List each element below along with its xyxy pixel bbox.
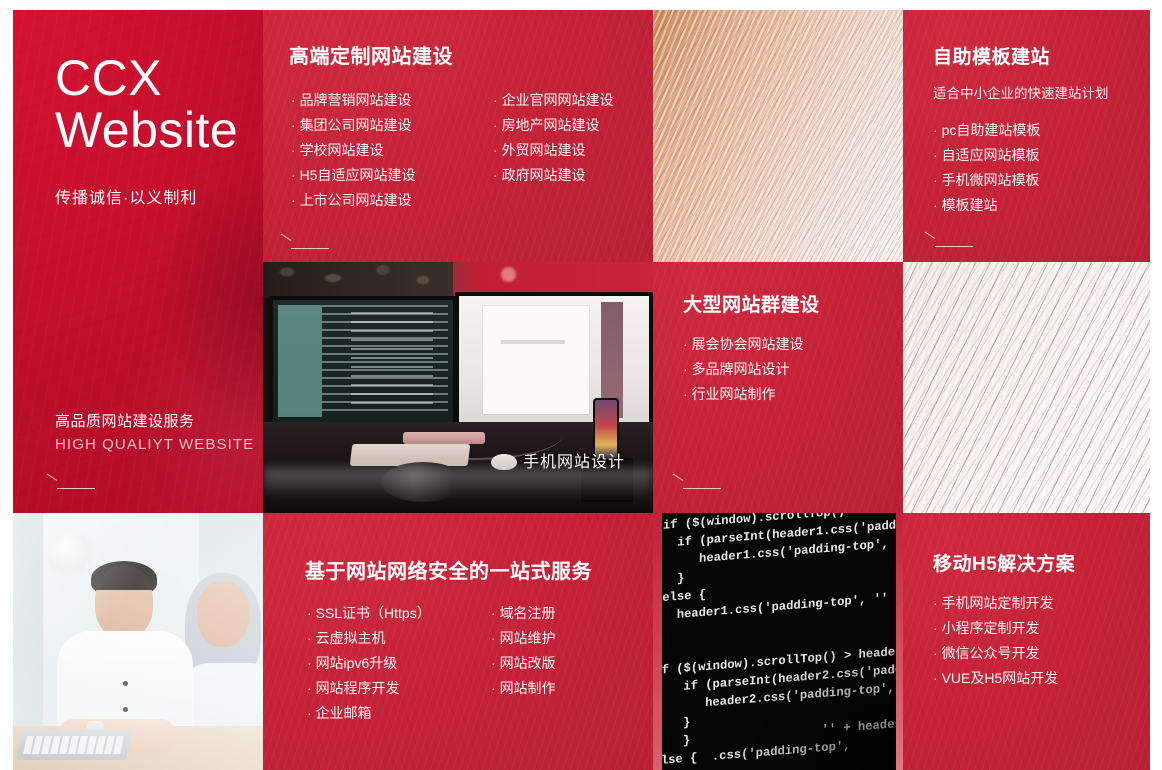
- card-group-list: 展会协会网站建设 多品牌网站设计 行业网站制作: [683, 332, 804, 407]
- card-custom-title: 高端定制网站建设: [289, 40, 453, 69]
- people-photo-image: [13, 513, 263, 770]
- photo-code-screen: if ($(window).scrollTop() > header1_init…: [653, 513, 903, 770]
- monitor-document-screen: [455, 292, 653, 428]
- photo-desk-caption: 手机网站设计: [523, 448, 625, 472]
- code-snippet-text: if ($(window).scrollTop() > header1_init…: [661, 513, 903, 770]
- photo-people-meeting: [13, 513, 263, 770]
- list-item[interactable]: 域名注册: [491, 601, 556, 626]
- brand-title-line2: Website: [55, 104, 238, 156]
- list-item[interactable]: 小程序定制开发: [933, 616, 1058, 641]
- list-item[interactable]: VUE及H5网站开发: [933, 666, 1058, 691]
- list-item[interactable]: 多品牌网站设计: [683, 357, 804, 382]
- list-item[interactable]: 手机网站定制开发: [933, 591, 1058, 616]
- desk-photo-image: [263, 262, 653, 513]
- card-h5-title: 移动H5解决方案: [933, 549, 1075, 576]
- card-custom-website[interactable]: 高端定制网站建设 品牌营销网站建设 集团公司网站建设 学校网站建设 H5自适应网…: [263, 10, 653, 262]
- list-item[interactable]: 学校网站建设: [291, 138, 467, 163]
- list-item[interactable]: 集团公司网站建设: [291, 113, 467, 138]
- list-item[interactable]: 行业网站制作: [683, 382, 804, 407]
- card-custom-list-col1: 品牌营销网站建设 集团公司网站建设 学校网站建设 H5自适应网站建设 上市公司网…: [291, 88, 467, 213]
- list-item[interactable]: 展会协会网站建设: [683, 332, 804, 357]
- list-item[interactable]: 政府网站建设: [493, 163, 614, 188]
- list-item[interactable]: 自适应网站模板: [933, 143, 1040, 168]
- card-h5-list: 手机网站定制开发 小程序定制开发 微信公众号开发 VUE及H5网站开发: [933, 591, 1058, 691]
- list-item[interactable]: 网站ipv6升级: [307, 651, 465, 676]
- card-self-subtitle: 适合中小企业的快速建站计划: [933, 82, 1109, 102]
- list-item[interactable]: 微信公众号开发: [933, 641, 1058, 666]
- hero-panel: CCX Website 传播诚信·以义制利 高品质网站建设服务 HIGH QUA…: [13, 10, 263, 513]
- list-item[interactable]: 品牌营销网站建设: [291, 88, 467, 113]
- list-item[interactable]: H5自适应网站建设: [291, 163, 467, 188]
- card-self-service-template[interactable]: 自助模板建站 适合中小企业的快速建站计划 pc自助建站模板 自适应网站模板 手机…: [903, 10, 1150, 262]
- card-security-list-col1: SSL证书（Https） 云虚拟主机 网站ipv6升级 网站程序开发 企业邮箱: [307, 601, 465, 726]
- bokeh-light: [501, 267, 516, 282]
- page-title: CCX Website: [55, 52, 238, 156]
- card-custom-list-col2: 企业官网网站建设 房地产网站建设 外贸网站建设 政府网站建设: [493, 88, 614, 213]
- list-item[interactable]: 上市公司网站建设: [291, 188, 467, 213]
- list-item[interactable]: 手机微网站模板: [933, 168, 1040, 193]
- brand-title-line1: CCX: [55, 52, 238, 104]
- list-item[interactable]: 企业官网网站建设: [493, 88, 614, 113]
- list-item[interactable]: 云虚拟主机: [307, 626, 465, 651]
- list-item[interactable]: 房地产网站建设: [493, 113, 614, 138]
- hero-subtitle-cn: 高品质网站建设服务: [55, 410, 195, 431]
- card-security-title: 基于网站网络安全的一站式服务: [305, 555, 592, 584]
- list-item[interactable]: 网站改版: [491, 651, 556, 676]
- card-security-service[interactable]: 基于网站网络安全的一站式服务 SSL证书（Https） 云虚拟主机 网站ipv6…: [263, 513, 653, 770]
- photo-desk-workstation: 手机网站设计: [263, 262, 653, 513]
- monitor-code-screen: [269, 296, 457, 426]
- list-item[interactable]: 网站维护: [491, 626, 556, 651]
- list-item[interactable]: pc自助建站模板: [933, 118, 1040, 143]
- desk-pad: [403, 432, 485, 444]
- code-photo-image: if ($(window).scrollTop() > header1_init…: [653, 513, 903, 770]
- list-item[interactable]: SSL证书（Https）: [307, 601, 465, 626]
- brand-slogan: 传播诚信·以义制利: [55, 184, 197, 208]
- list-item[interactable]: 网站制作: [491, 676, 556, 701]
- list-item[interactable]: 外贸网站建设: [493, 138, 614, 163]
- list-item[interactable]: 企业邮箱: [307, 701, 465, 726]
- promo-grid-page: CCX Website 传播诚信·以义制利 高品质网站建设服务 HIGH QUA…: [0, 0, 1162, 770]
- card-mobile-h5[interactable]: 移动H5解决方案 手机网站定制开发 小程序定制开发 微信公众号开发 VUE及H5…: [903, 513, 1150, 770]
- texture-image-cool-fiber: [903, 262, 1150, 513]
- plant-blur: [263, 262, 453, 298]
- card-security-list-col2: 域名注册 网站维护 网站改版 网站制作: [491, 601, 556, 726]
- card-self-list: pc自助建站模板 自适应网站模板 手机微网站模板 模板建站: [933, 118, 1040, 218]
- list-item[interactable]: 网站程序开发: [307, 676, 465, 701]
- hero-subtitle-en: HIGH QUALIYT WEBSITE: [55, 436, 254, 453]
- card-site-group[interactable]: 大型网站群建设 展会协会网站建设 多品牌网站设计 行业网站制作: [653, 262, 903, 513]
- texture-image-warm-fiber: [653, 10, 903, 262]
- photo-glare: [263, 468, 653, 500]
- list-item[interactable]: 模板建站: [933, 193, 1040, 218]
- card-self-title: 自助模板建站: [933, 42, 1050, 69]
- card-group-title: 大型网站群建设: [683, 290, 820, 317]
